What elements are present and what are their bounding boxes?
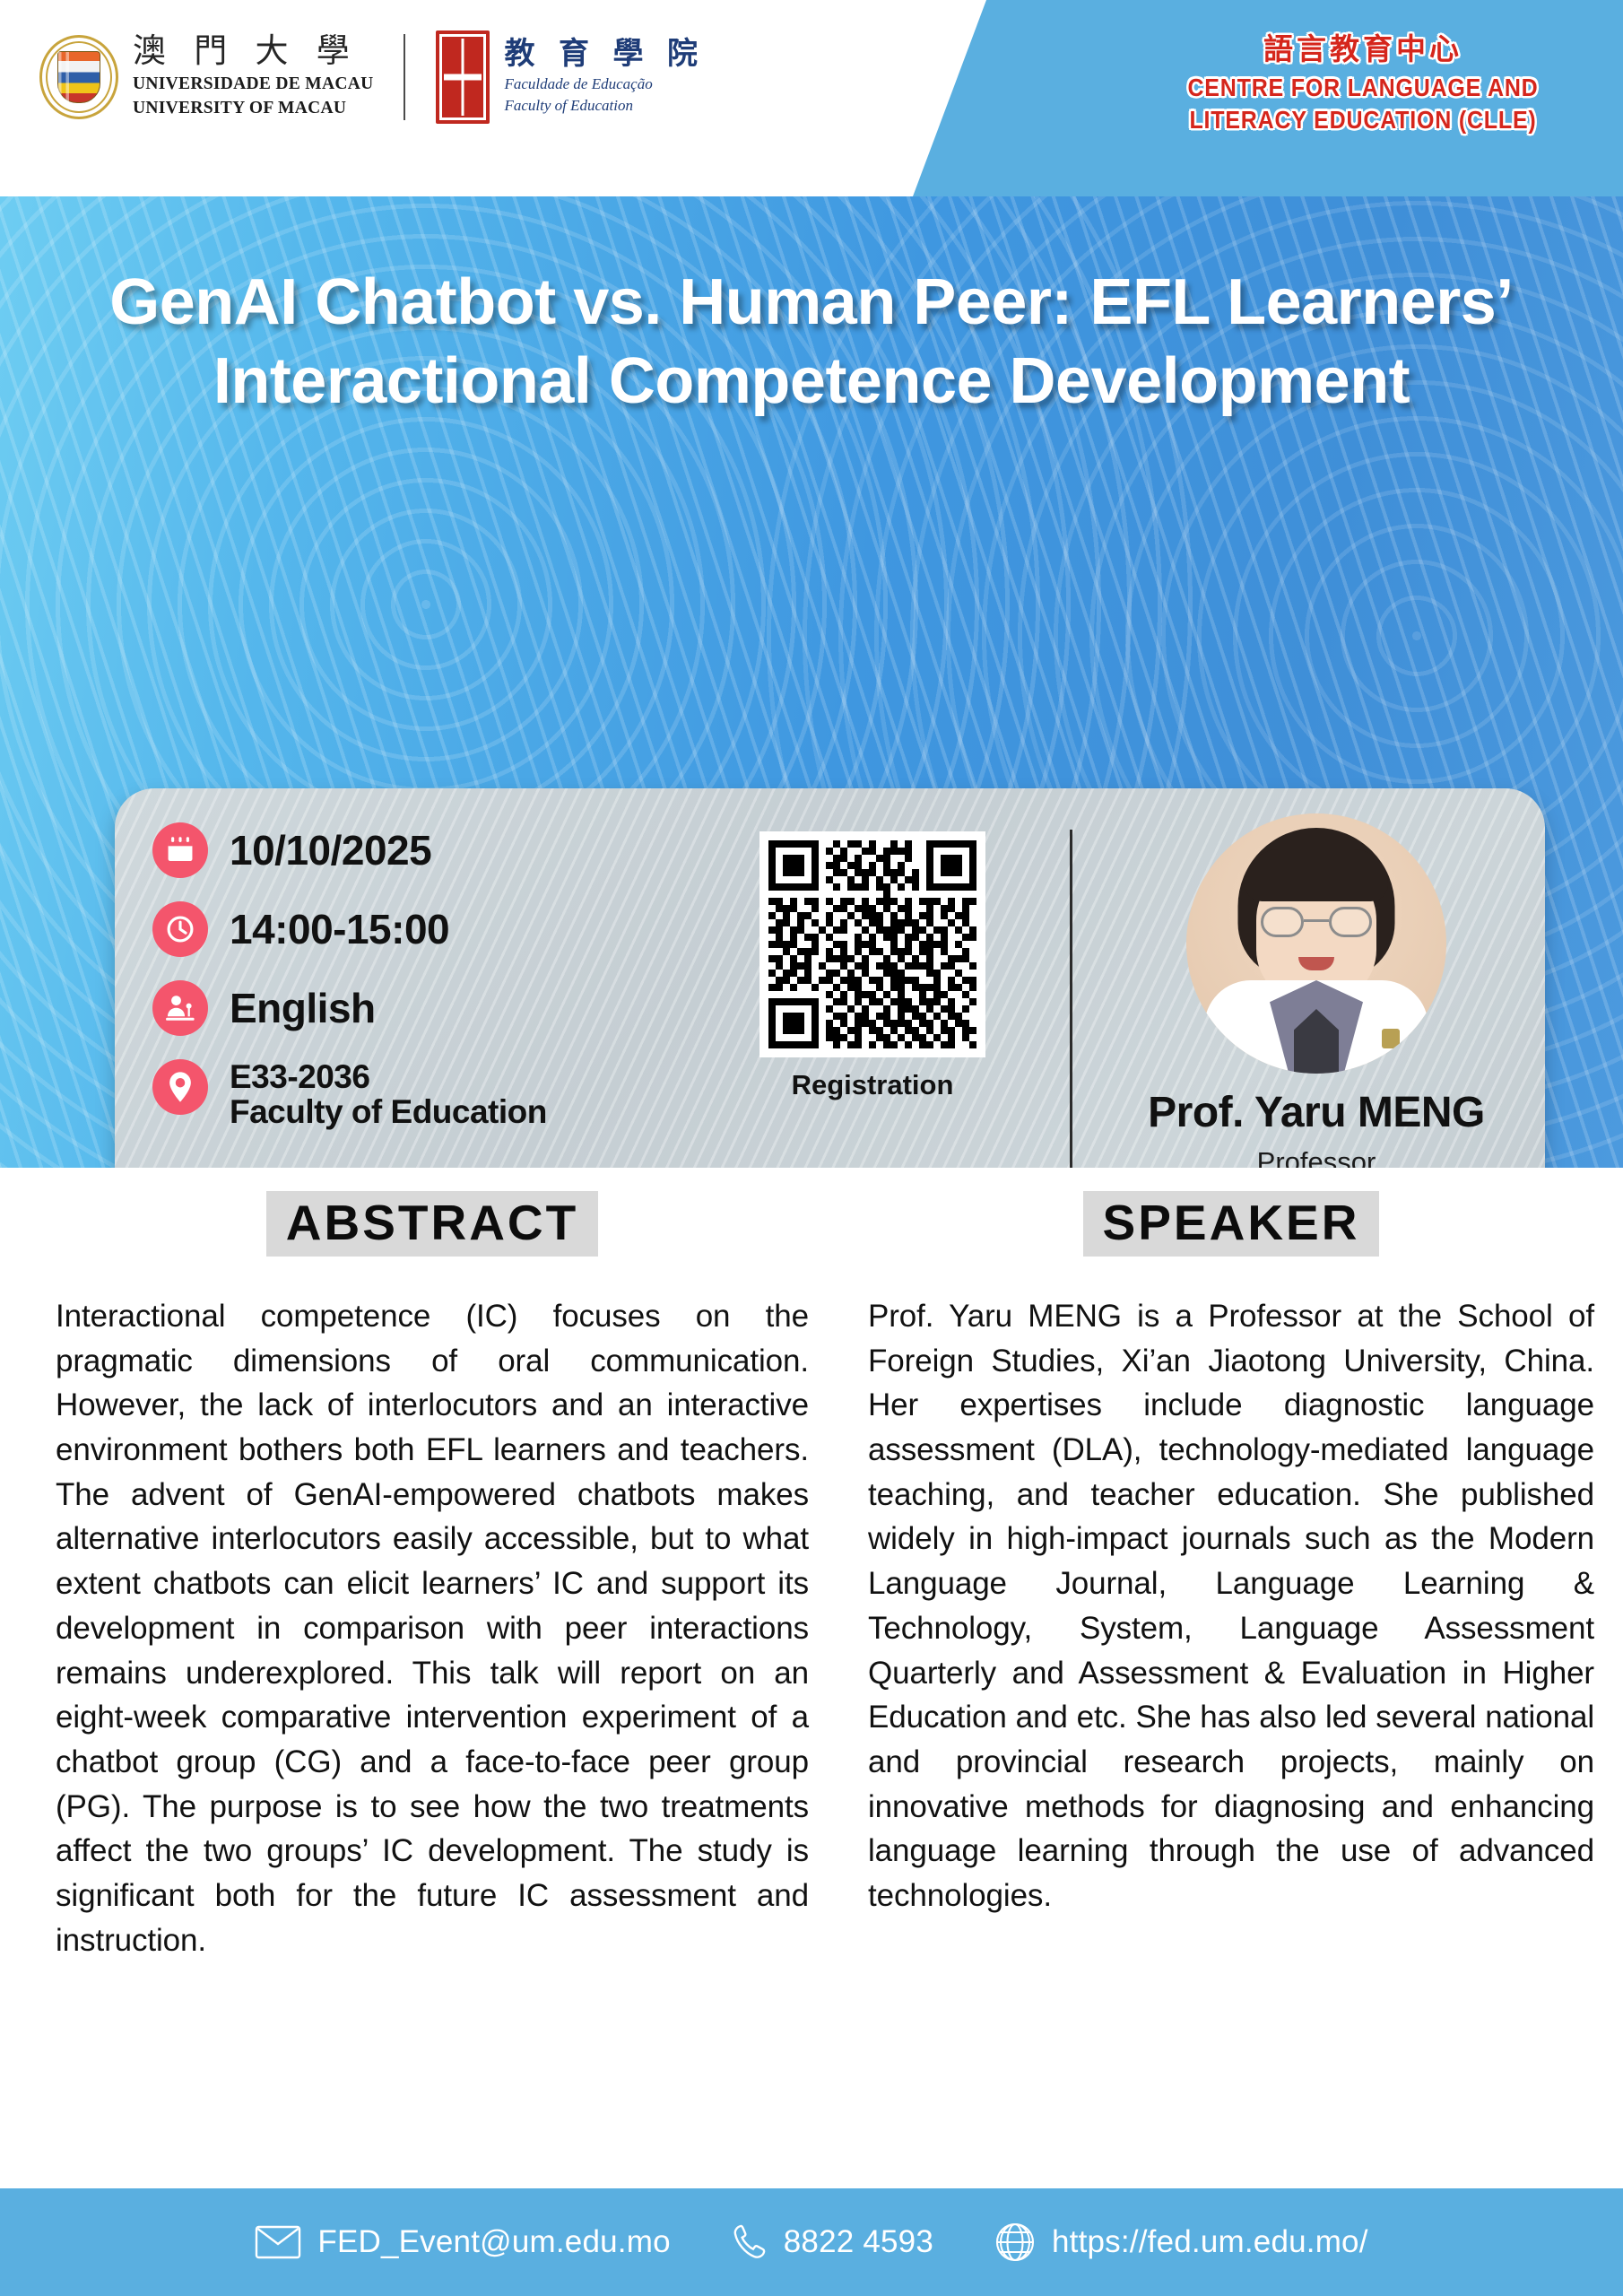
event-time-value: 14:00-15:00: [230, 908, 449, 952]
footer-website[interactable]: https://fed.um.edu.mo/: [994, 2222, 1368, 2263]
globe-icon: [994, 2222, 1036, 2263]
fed-name-english: Faculty of Education: [504, 95, 706, 117]
poster-footer: FED_Event@um.edu.mo 8822 4593 https://fe…: [0, 2188, 1623, 2296]
event-location-value: E33-2036 Faculty of Education: [230, 1059, 547, 1129]
event-date-row: 10/10/2025: [152, 822, 619, 878]
location-pin-icon: [152, 1059, 208, 1115]
envelope-icon: [255, 2225, 301, 2259]
qr-caption: Registration: [756, 1069, 989, 1101]
footer-phone-text: 8822 4593: [784, 2224, 933, 2260]
event-info-card: 10/10/2025 14:00-15:00: [115, 788, 1545, 1168]
footer-email[interactable]: FED_Event@um.edu.mo: [255, 2224, 670, 2260]
faculty-seal-icon: [436, 30, 490, 124]
speaker-bio-section: SPEAKER Prof. Yaru MENG is a Professor a…: [868, 1191, 1594, 1918]
abstract-section: ABSTRACT Interactional competence (IC) f…: [56, 1191, 809, 1962]
event-venue-name: Faculty of Education: [230, 1094, 547, 1129]
fed-name-portuguese: Faculdade de Educação: [504, 74, 706, 96]
clle-name-english-line1: CENTRE FOR LANGUAGE AND: [1152, 72, 1574, 104]
event-room-number: E33-2036: [230, 1059, 547, 1094]
event-date-value: 10/10/2025: [230, 829, 431, 873]
abstract-text: Interactional competence (IC) focuses on…: [56, 1294, 809, 1962]
phone-icon: [732, 2223, 768, 2261]
poster-header: 澳 門 大 學 UNIVERSIDADE DE MACAU UNIVERSITY…: [0, 0, 1623, 196]
registration-qr-block[interactable]: Registration: [756, 831, 989, 1101]
clle-name-chinese: 語言教育中心: [1152, 32, 1574, 69]
speaker-name: Prof. Yaru MENG: [1110, 1088, 1523, 1137]
card-vertical-divider: [1070, 830, 1072, 1168]
event-location-row: E33-2036 Faculty of Education: [152, 1059, 619, 1129]
footer-phone[interactable]: 8822 4593: [732, 2223, 933, 2261]
speaker-person-icon: [152, 980, 208, 1036]
speaker-portrait-icon: [1186, 813, 1446, 1074]
clle-branding: 語言教育中心 CENTRE FOR LANGUAGE AND LITERACY …: [1152, 32, 1574, 133]
um-name-portuguese: UNIVERSIDADE DE MACAU: [133, 72, 373, 97]
speaker-heading: SPEAKER: [868, 1191, 1594, 1257]
university-crest-icon: [38, 33, 120, 121]
speaker-bio-text: Prof. Yaru MENG is a Professor at the Sc…: [868, 1294, 1594, 1918]
footer-email-text: FED_Event@um.edu.mo: [317, 2224, 670, 2260]
event-language-value: English: [230, 987, 376, 1031]
qr-code-icon[interactable]: [759, 831, 985, 1057]
clock-icon: [152, 901, 208, 957]
fed-name-chinese: 教 育 學 院: [504, 37, 706, 74]
speaker-heading-label: SPEAKER: [1083, 1191, 1380, 1257]
institution-logos: 澳 門 大 學 UNIVERSIDADE DE MACAU UNIVERSITY…: [38, 23, 706, 131]
event-details-list: 10/10/2025 14:00-15:00: [152, 822, 619, 1129]
page-title: GenAI Chatbot vs. Human Peer: EFL Learne…: [85, 264, 1538, 422]
poster-body: ABSTRACT Interactional competence (IC) f…: [0, 1191, 1623, 2169]
um-logo-text: 澳 門 大 學 UNIVERSIDADE DE MACAU UNIVERSITY…: [133, 33, 373, 121]
logo-divider: [404, 34, 405, 120]
event-time-row: 14:00-15:00: [152, 901, 619, 957]
footer-website-text: https://fed.um.edu.mo/: [1052, 2224, 1368, 2260]
poster-banner: GenAI Chatbot vs. Human Peer: EFL Learne…: [0, 196, 1623, 1168]
abstract-heading: ABSTRACT: [56, 1191, 809, 1257]
clle-name-english-line2: LITERACY EDUCATION (CLLE): [1152, 104, 1574, 136]
event-language-row: English: [152, 980, 619, 1036]
speaker-title: Professor: [1110, 1144, 1523, 1168]
um-name-english: UNIVERSITY OF MACAU: [133, 96, 373, 121]
um-name-chinese: 澳 門 大 學: [133, 33, 373, 72]
speaker-profile-block: Prof. Yaru MENG Professor Xi'an Jiaotong…: [1110, 813, 1523, 1168]
fed-logo-text: 教 育 學 院 Faculdade de Educação Faculty of…: [504, 37, 706, 117]
calendar-icon: [152, 822, 208, 878]
abstract-heading-label: ABSTRACT: [266, 1191, 598, 1257]
